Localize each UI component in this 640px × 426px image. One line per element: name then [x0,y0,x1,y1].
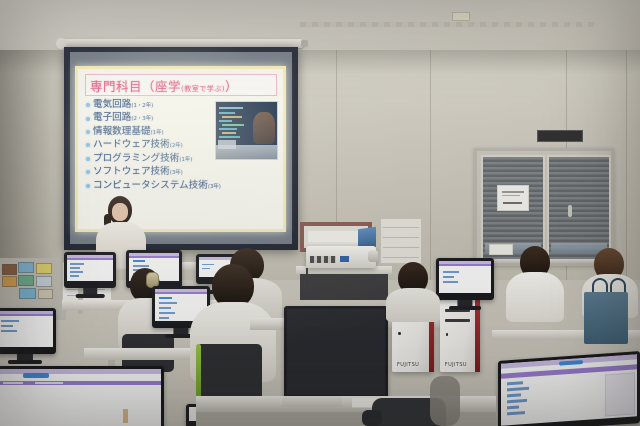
bullet-dot-icon [86,170,90,174]
monitor-right-upper[interactable] [436,258,494,300]
classroom-photo: 専門科目（座学(教室で学ぶ)） 電気回路(1・2年) 電子回路(2・3年) 情報 [0,0,640,426]
slide-bullet-item: 情報数理基礎(1年) [86,127,216,137]
projector-ports [310,256,336,263]
chair-left-foreground[interactable] [430,376,460,426]
monitor-screen [67,255,113,281]
bullet-label: 電気回路(1・2年) [93,100,153,110]
bullet-label: ハードウェア技術(2年) [93,140,183,150]
bullet-label: プログラミング技術(1年) [93,154,192,164]
bullet-dot-icon [86,184,90,188]
projection-screen: 専門科目（座学(教室で学ぶ)） 電気回路(1・2年) 電子回路(2・3年) 情報 [64,47,298,250]
wall-left-shading [0,50,60,280]
keyboard-front[interactable] [282,396,342,407]
bullet-label: 電子回路(2・3年) [93,113,153,123]
monitor-screen [501,354,637,426]
pc-tower-right[interactable]: FUJITSU [440,300,480,372]
projector-cable [306,268,308,290]
monitor-mid-left[interactable] [0,308,56,354]
slide-bullet-list: 電気回路(1・2年) 電子回路(2・3年) 情報数理基礎(1年) ハードウェア技… [86,100,216,194]
monitor-foreground-right[interactable] [498,351,640,426]
monitor-screen [0,369,161,426]
monitor-screen [0,311,53,347]
projector-lens [368,250,378,262]
monitor-far-left[interactable] [64,252,116,288]
slide-bullet-item: コンピュータシステム技術(3年) [86,181,216,191]
tower-brand-label: FUJITSU [397,362,419,368]
projected-slide: 専門科目（座学(教室で学ぶ)） 電気回路(1・2年) 電子回路(2・3年) 情報 [75,66,286,232]
chair-center-front[interactable] [196,344,262,402]
student-body-right-white [506,272,564,322]
slide-title-text: 専門科目（座学(教室で学ぶ)） [90,76,238,95]
monitor-right-rear[interactable] [284,306,388,402]
slide-bullet-item: 電子回路(2・3年) [86,113,216,123]
tote-bag [584,292,628,344]
monitor-screen [287,309,385,395]
window-notice-small [489,244,513,255]
wall-display-sign [537,130,583,142]
window-pane-right [547,155,611,261]
bullet-dot-icon [86,143,90,147]
slide-photo [215,101,278,160]
bullet-dot-icon [86,103,90,107]
chair-accent [196,344,201,402]
bullet-dot-icon [86,117,90,121]
ceiling-vent [452,12,470,21]
chair-foreground-arm [362,410,382,426]
tower-brand-label: FUJITSU [445,362,467,368]
bullet-dot-icon [86,157,90,161]
projector-badge [340,256,349,262]
bullet-label: コンピュータシステム技術(3年) [93,181,221,191]
tower-accent-stripe [475,300,480,372]
instructor-face [112,203,128,221]
slide-bullet-item: ハードウェア技術(2年) [86,140,216,150]
stacked-papers [308,231,360,242]
slide-photo-person [253,112,275,144]
bullet-dot-icon [86,130,90,134]
window-handle[interactable] [568,205,572,217]
monitor-foreground-left[interactable] [0,366,164,426]
slide-bullet-item: ソフトウェア技術(3年) [86,167,216,177]
bullet-label: ソフトウェア技術(3年) [93,167,183,177]
window-notice-sign [497,185,529,211]
student-body-right [386,288,440,322]
wall-seam [626,50,627,280]
slide-bullet-item: プログラミング技術(1年) [86,154,216,164]
slide-bullet-item: 電気回路(1・2年) [86,100,216,110]
projector-cart-body [300,274,388,300]
wall-seam [430,50,431,280]
wire-rack [380,218,422,264]
slide-photo-monitor [218,140,236,149]
bullet-label: 情報数理基礎(1年) [93,127,164,137]
monitor-screen [439,261,491,293]
slide-title-box: 専門科目（座学(教室で学ぶ)） [85,74,277,96]
